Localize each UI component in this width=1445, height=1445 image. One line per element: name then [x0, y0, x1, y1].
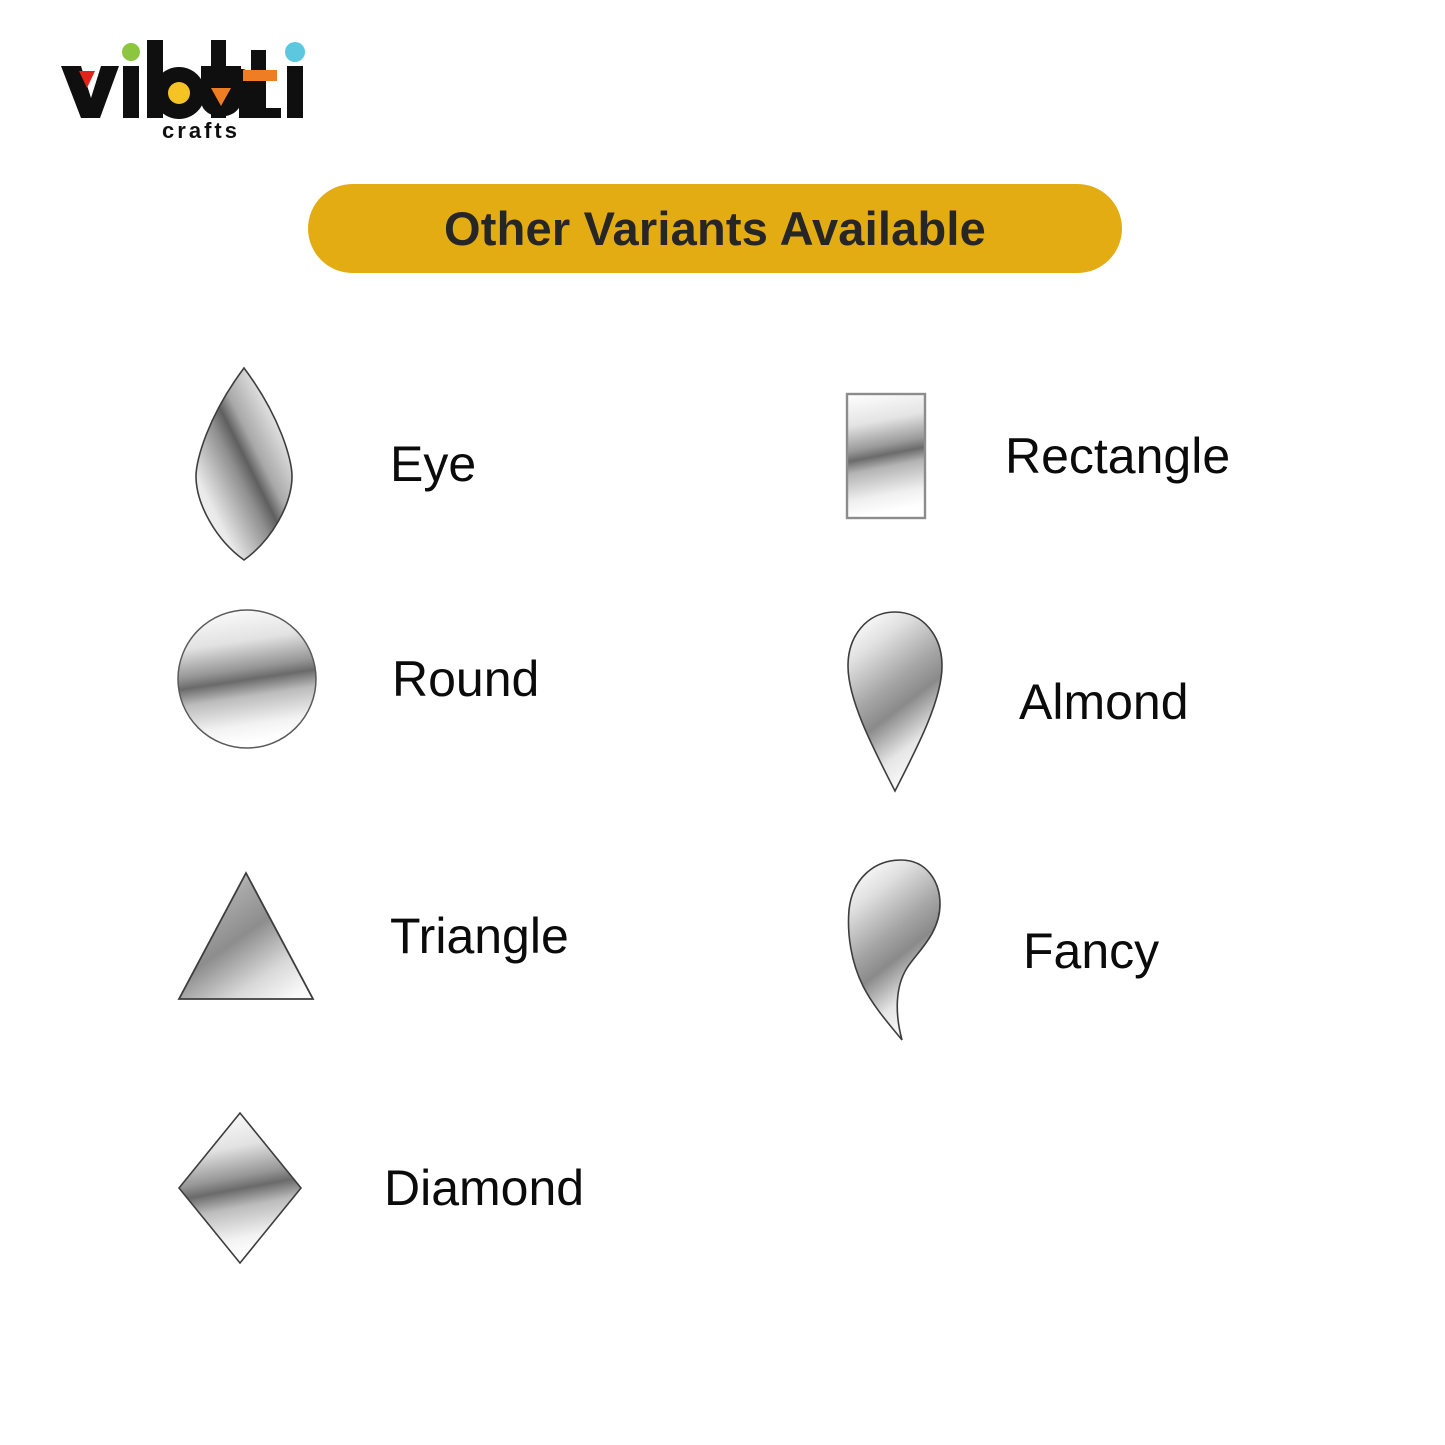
logo-b-circle-icon	[168, 82, 190, 104]
variant-item-fancy[interactable]: Fancy	[845, 856, 1159, 1046]
variant-label: Rectangle	[1005, 431, 1230, 481]
rectangle-shape-icon	[845, 392, 927, 520]
logo-tagline: crafts	[162, 118, 240, 143]
logo-t-bar-icon	[243, 70, 277, 81]
triangle-shape-icon	[176, 870, 316, 1002]
variant-label: Round	[392, 654, 539, 704]
logo-i-dot-icon	[122, 43, 140, 61]
banner-title: Other Variants Available	[444, 201, 986, 256]
variant-label: Triangle	[390, 911, 569, 961]
diamond-shape-icon	[176, 1110, 304, 1266]
product-variants-infographic: crafts Other Variants Available	[0, 0, 1445, 1445]
variant-item-almond[interactable]: Almond	[845, 610, 1189, 794]
variant-label: Eye	[390, 439, 476, 489]
vibhuti-crafts-logo: crafts	[55, 38, 315, 143]
variant-grid: Eye Rectangle Round	[0, 330, 1445, 1340]
variant-item-round[interactable]: Round	[176, 608, 539, 750]
variant-item-diamond[interactable]: Diamond	[176, 1110, 584, 1266]
other-variants-banner: Other Variants Available	[308, 184, 1122, 273]
eye-shape-icon	[176, 364, 312, 564]
variant-label: Diamond	[384, 1163, 584, 1213]
variant-label: Almond	[1019, 677, 1189, 727]
almond-shape-icon	[845, 610, 945, 794]
logo-wordmark-vibhuti	[61, 40, 305, 119]
variant-item-triangle[interactable]: Triangle	[176, 870, 569, 1002]
logo-i2-dot-icon	[285, 42, 305, 62]
round-shape-icon	[176, 608, 318, 750]
variant-item-eye[interactable]: Eye	[176, 364, 476, 564]
variant-label: Fancy	[1023, 926, 1159, 976]
fancy-shape-icon	[845, 856, 943, 1046]
variant-item-rectangle[interactable]: Rectangle	[845, 392, 1230, 520]
